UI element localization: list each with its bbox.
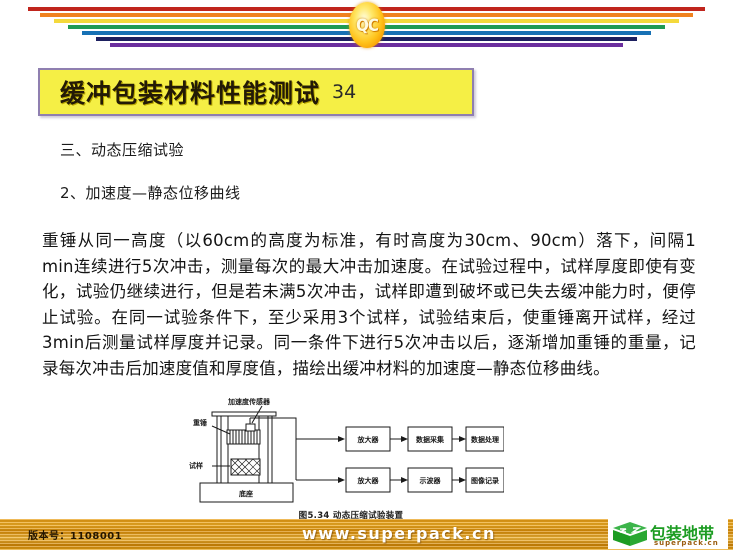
accelerometer-sensor [246,424,255,431]
arrow-top-1 [401,436,408,442]
body-paragraph: 重锤从同一高度（以60cm的高度为标准，有时高度为30cm、90cm）落下，间隔… [42,228,696,381]
brand-name-en: superpack.cn [654,539,719,547]
section-heading-3: 三、动态压缩试验 [60,139,184,160]
label-base: 底座 [239,489,253,498]
hammer-block [227,430,260,444]
arrow-bottom-1 [401,477,408,483]
label-sensor: 加速度传感器 [227,397,271,406]
subsection-heading-2: 2、加速度—静态位移曲线 [60,182,241,203]
label-data-acquisition: 数据采集 [416,435,445,444]
label-specimen: 试样 [189,461,203,470]
rainbow-banner: QC [0,0,733,52]
label-image-record: 图像记录 [471,476,499,485]
frame-post-left [217,416,221,483]
apparatus-diagram-svg: 加速度传感器 重锤 试样 底座 放大器 数据采集 数据处理 放大器 示波器 图像… [186,396,504,508]
arrow-bottom-2 [459,477,466,483]
label-data-processing: 数据处理 [471,435,499,444]
package-box-icon [611,521,649,547]
slide-title-box: 缓冲包装材料性能测试 34 [38,68,474,116]
frame-crossbeam [212,412,276,416]
site-url-text[interactable]: www.superpack.cn [302,524,496,543]
qc-badge-icon: QC [349,2,385,48]
qc-badge-label: QC [356,15,378,36]
version-label: 版本号：1108001 [28,527,122,542]
slide-canvas: QC 缓冲包装材料性能测试 34 三、动态压缩试验 2、加速度—静态位移曲线 重… [0,0,733,550]
label-oscilloscope: 示波器 [419,476,442,485]
arrow-to-amp-bottom [338,477,345,483]
brand-logo[interactable]: 包装地带 superpack.cn [608,519,728,549]
label-amplifier-top: 放大器 [357,435,380,444]
frame-post-right [268,416,272,483]
page-number: 34 [332,81,356,103]
arrow-to-amp-top [338,436,345,442]
apparatus-diagram: 加速度传感器 重锤 试样 底座 放大器 数据采集 数据处理 放大器 示波器 图像… [186,396,504,528]
label-hammer: 重锤 [193,418,207,427]
page-title: 缓冲包装材料性能测试 [60,74,320,110]
arrow-top-2 [459,436,466,442]
label-amplifier-bottom: 放大器 [357,476,380,485]
